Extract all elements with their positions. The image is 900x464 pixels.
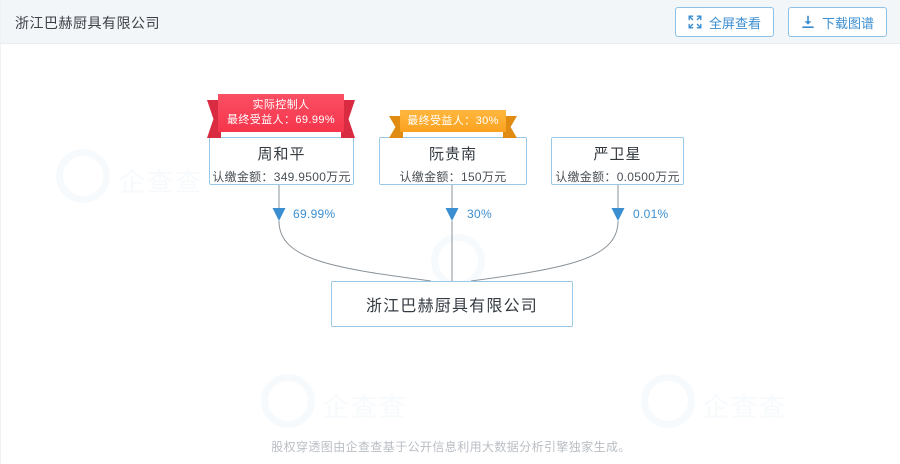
watermark-logo — [641, 374, 695, 428]
shareholder-name: 严卫星 — [552, 147, 683, 162]
fullscreen-view-label: 全屏查看 — [709, 13, 761, 32]
page-title: 浙江巴赫厨具有限公司 — [15, 13, 160, 33]
graph-canvas[interactable]: 企查查 企查查 企查查 69.99% 30% 0.01% — [1, 44, 900, 438]
watermark-logo — [261, 374, 315, 428]
shareholder-node-3[interactable]: 严卫星 认缴金额：0.0500万元 — [551, 137, 684, 185]
shareholder-amount: 认缴金额：0.0500万元 — [552, 171, 683, 183]
company-node[interactable]: 浙江巴赫厨具有限公司 — [331, 281, 573, 327]
watermark-text: 企查查 — [119, 162, 203, 199]
download-chart-label: 下载图谱 — [822, 13, 874, 32]
ribbon-line-beneficiary: 最终受益人：30% — [407, 114, 499, 129]
watermark-logo — [431, 234, 485, 288]
shareholder-ribbon-1: 实际控制人 最终受益人：69.99% — [218, 94, 344, 132]
panel-header: 浙江巴赫厨具有限公司 全屏查看 — [1, 0, 900, 44]
fullscreen-icon — [688, 15, 702, 29]
edge-label-percent-2: 30% — [467, 207, 492, 221]
graph-edges — [1, 44, 900, 438]
watermark-text: 企查查 — [703, 387, 787, 424]
edge-label-percent-1: 69.99% — [293, 207, 336, 221]
edge-label-percent-3: 0.01% — [633, 207, 669, 221]
ribbon-line-controller: 实际控制人 — [253, 98, 310, 113]
download-chart-button[interactable]: 下载图谱 — [788, 7, 887, 37]
shareholder-node-1[interactable]: 周和平 认缴金额：349.9500万元 — [209, 137, 354, 185]
shareholder-ribbon-2: 最终受益人：30% — [400, 110, 506, 132]
edge-arrow-3 — [612, 208, 625, 221]
watermark-logo — [56, 149, 110, 203]
ribbon-line-beneficiary: 最终受益人：69.99% — [227, 113, 335, 128]
fullscreen-view-button[interactable]: 全屏查看 — [675, 7, 774, 37]
edge-arrow-1 — [273, 208, 286, 221]
shareholder-amount: 认缴金额：150万元 — [380, 171, 526, 183]
equity-structure-panel: 浙江巴赫厨具有限公司 全屏查看 — [0, 0, 900, 464]
shareholder-name: 阮贵南 — [380, 147, 526, 162]
shareholder-name: 周和平 — [210, 147, 353, 162]
download-icon — [801, 15, 815, 29]
footer-note: 股权穿透图由企查查基于公开信息利用大数据分析引擎独家生成。 — [271, 438, 631, 455]
shareholder-node-2[interactable]: 阮贵南 认缴金额：150万元 — [379, 137, 527, 185]
header-actions: 全屏查看 下载图谱 — [675, 7, 887, 37]
edge-arrow-2 — [446, 208, 459, 221]
watermark-text: 企查查 — [323, 387, 407, 424]
panel-footer: 股权穿透图由企查查基于公开信息利用大数据分析引擎独家生成。 — [1, 438, 900, 464]
shareholder-amount: 认缴金额：349.9500万元 — [210, 171, 353, 183]
